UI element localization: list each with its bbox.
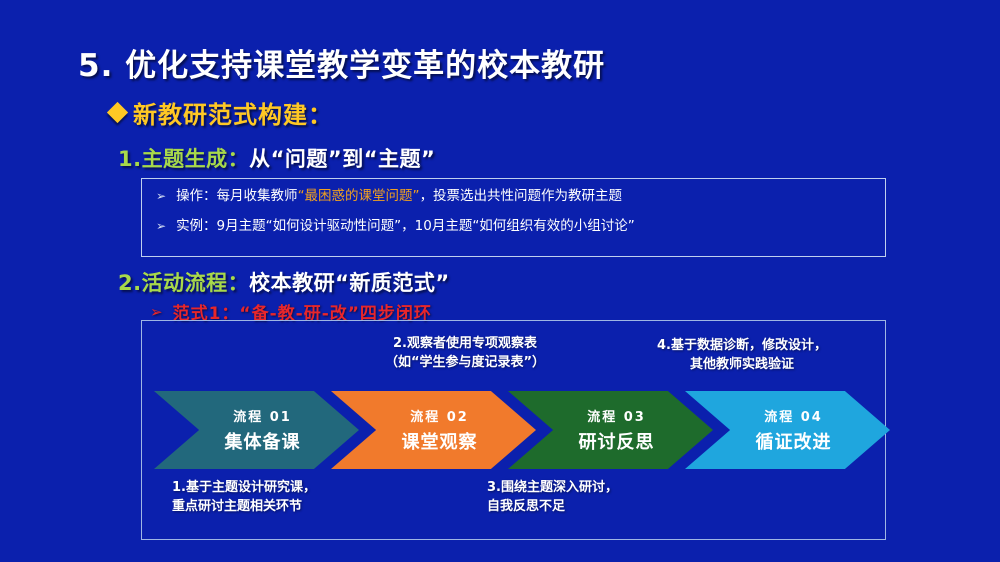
annotation-step-3: 3.围绕主题深入研讨， 自我反思不足 xyxy=(487,479,618,517)
annotation-line: （如“学生参与度记录表”） xyxy=(290,354,640,373)
chevron-row: 流程 01 集体备课 流程 02 课堂观察 流程 03 研讨反思 流程 04 循… xyxy=(154,391,876,469)
list-item-highlight: “最困惑的课堂问题” xyxy=(298,188,420,204)
step-label: 流程 04 xyxy=(764,406,823,425)
page-title: 5. 优化支持课堂教学变革的校本教研 xyxy=(78,40,605,85)
annotation-line: 3.围绕主题深入研讨， xyxy=(487,479,618,498)
arrow-bullet-icon: ➢ xyxy=(156,188,166,204)
section-2-heading: 2.活动流程：校本教研“新质范式” xyxy=(118,267,450,297)
process-flow-diagram: 2.观察者使用专项观察表 （如“学生参与度记录表”） 4.基于数据诊断，修改设计… xyxy=(141,320,886,540)
annotation-line: 自我反思不足 xyxy=(487,498,618,517)
annotation-step-2: 2.观察者使用专项观察表 （如“学生参与度记录表”） xyxy=(290,335,640,373)
annotation-line: 其他教师实践验证 xyxy=(597,356,887,375)
list-item: ➢ 实例：9月主题“如何设计驱动性问题”，10月主题“如何组织有效的小组讨论” xyxy=(156,218,869,235)
arrow-bullet-icon: ➢ xyxy=(156,218,166,234)
step-title: 课堂观察 xyxy=(402,428,478,454)
section-1-heading: 1.主题生成：从“问题”到“主题” xyxy=(118,143,435,173)
content-box: ➢ 操作：每月收集教师“最困惑的课堂问题”，投票选出共性问题作为教研主题 ➢ 实… xyxy=(141,178,886,257)
annotation-line: 4.基于数据诊断，修改设计， xyxy=(597,337,887,356)
process-step-4[interactable]: 流程 04 循证改进 xyxy=(685,391,890,469)
section-2-text: 校本教研“新质范式” xyxy=(249,271,450,295)
step-title: 研讨反思 xyxy=(579,428,655,454)
annotation-line: 1.基于主题设计研究课， xyxy=(172,479,316,498)
step-label: 流程 03 xyxy=(587,406,646,425)
section-1-number: 1.主题生成： xyxy=(118,147,249,171)
subheading-label: 新教研范式构建： xyxy=(133,95,333,130)
list-item-text: 操作：每月收集教师“最困惑的课堂问题”，投票选出共性问题作为教研主题 xyxy=(176,188,622,205)
step-title: 循证改进 xyxy=(756,428,832,454)
process-step-2[interactable]: 流程 02 课堂观察 xyxy=(331,391,536,469)
list-item-pre: 操作：每月收集教师 xyxy=(176,188,298,204)
list-item: ➢ 操作：每月收集教师“最困惑的课堂问题”，投票选出共性问题作为教研主题 xyxy=(156,188,869,205)
step-label: 流程 01 xyxy=(233,406,292,425)
list-item-post: ，投票选出共性问题作为教研主题 xyxy=(420,188,623,204)
step-label: 流程 02 xyxy=(410,406,469,425)
diamond-icon xyxy=(107,102,128,123)
section-2-number: 2.活动流程： xyxy=(118,271,249,295)
arrow-bullet-icon: ➢ xyxy=(150,303,164,321)
list-item-text: 实例：9月主题“如何设计驱动性问题”，10月主题“如何组织有效的小组讨论” xyxy=(176,218,635,235)
subheading: 新教研范式构建： xyxy=(110,95,333,130)
annotation-step-4: 4.基于数据诊断，修改设计， 其他教师实践验证 xyxy=(597,337,887,375)
annotation-step-1: 1.基于主题设计研究课， 重点研讨主题相关环节 xyxy=(172,479,316,517)
annotation-line: 重点研讨主题相关环节 xyxy=(172,498,316,517)
annotation-line: 2.观察者使用专项观察表 xyxy=(290,335,640,354)
list-item-pre: 实例：9月主题“如何设计驱动性问题”，10月主题“如何组织有效的小组讨论” xyxy=(176,218,635,234)
process-step-3[interactable]: 流程 03 研讨反思 xyxy=(508,391,713,469)
step-title: 集体备课 xyxy=(225,428,301,454)
process-step-1[interactable]: 流程 01 集体备课 xyxy=(154,391,359,469)
section-1-text: 从“问题”到“主题” xyxy=(249,147,435,171)
